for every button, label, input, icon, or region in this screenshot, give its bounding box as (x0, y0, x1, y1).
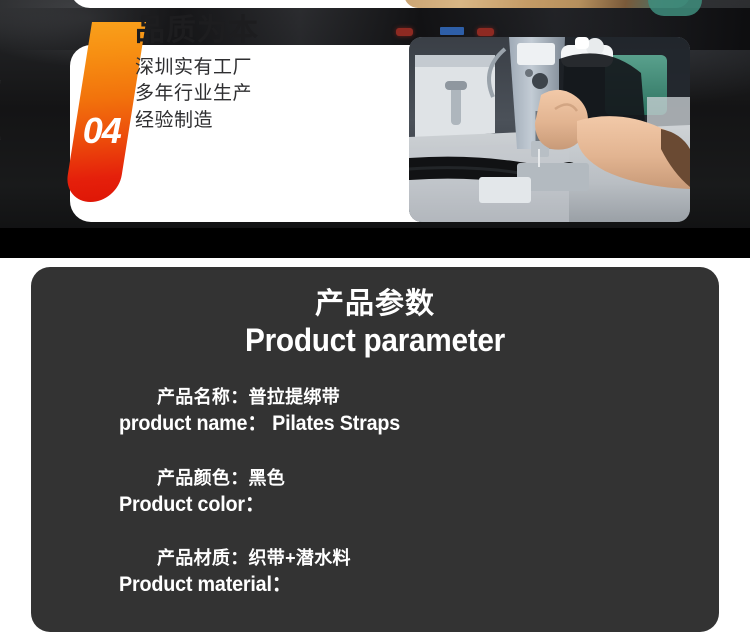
background-license-plate (440, 27, 464, 35)
product-parameter-card: 产品参数 Product parameter 产品名称：普拉提绑带 produc… (31, 267, 719, 632)
product-parameter-section: 产品参数 Product parameter 产品名称：普拉提绑带 produc… (0, 258, 750, 632)
background-taillight-left (396, 28, 413, 36)
parameter-en-product-material: Product material： (119, 571, 683, 599)
parameter-cn-product-name: 产品名称：普拉提绑带 (119, 384, 719, 410)
background-taillight-right (477, 28, 494, 36)
parameter-en-product-name: product name： Pilates Straps (119, 410, 683, 438)
step-number-label: 04 (75, 110, 129, 152)
parameter-list: 产品名称：普拉提绑带 product name： Pilates Straps … (31, 384, 719, 599)
feature-subtitle-line-3: 经验制造 (135, 108, 325, 135)
parameter-row-product-name: 产品名称：普拉提绑带 product name： Pilates Straps (119, 384, 719, 438)
feature-text-block: 品质为本 深圳实有工厂 多年行业生产 经验制造 (135, 14, 325, 135)
background-teal-blob (648, 0, 702, 16)
feature-section: 04 品质为本 深圳实有工厂 多年行业生产 经验制造 (0, 0, 750, 258)
parameter-cn-product-material: 产品材质：织带+潜水料 (119, 545, 719, 571)
section-divider-band (0, 228, 750, 258)
parameter-cn-product-color: 产品颜色：黑色 (119, 465, 719, 491)
sewing-machine-photo (409, 37, 690, 222)
parameter-title-cn: 产品参数 (31, 289, 719, 321)
feature-title: 品质为本 (135, 14, 325, 49)
feature-subtitle-line-1: 深圳实有工厂 (135, 55, 325, 82)
parameter-en-product-color: Product color： (119, 491, 683, 519)
parameter-row-product-material: 产品材质：织带+潜水料 Product material： (119, 545, 719, 599)
feature-subtitle-line-2: 多年行业生产 (135, 81, 325, 108)
sewing-machine-illustration (409, 37, 690, 222)
parameter-row-product-color: 产品颜色：黑色 Product color： (119, 465, 719, 519)
parameter-title-en: Product parameter (55, 323, 695, 358)
